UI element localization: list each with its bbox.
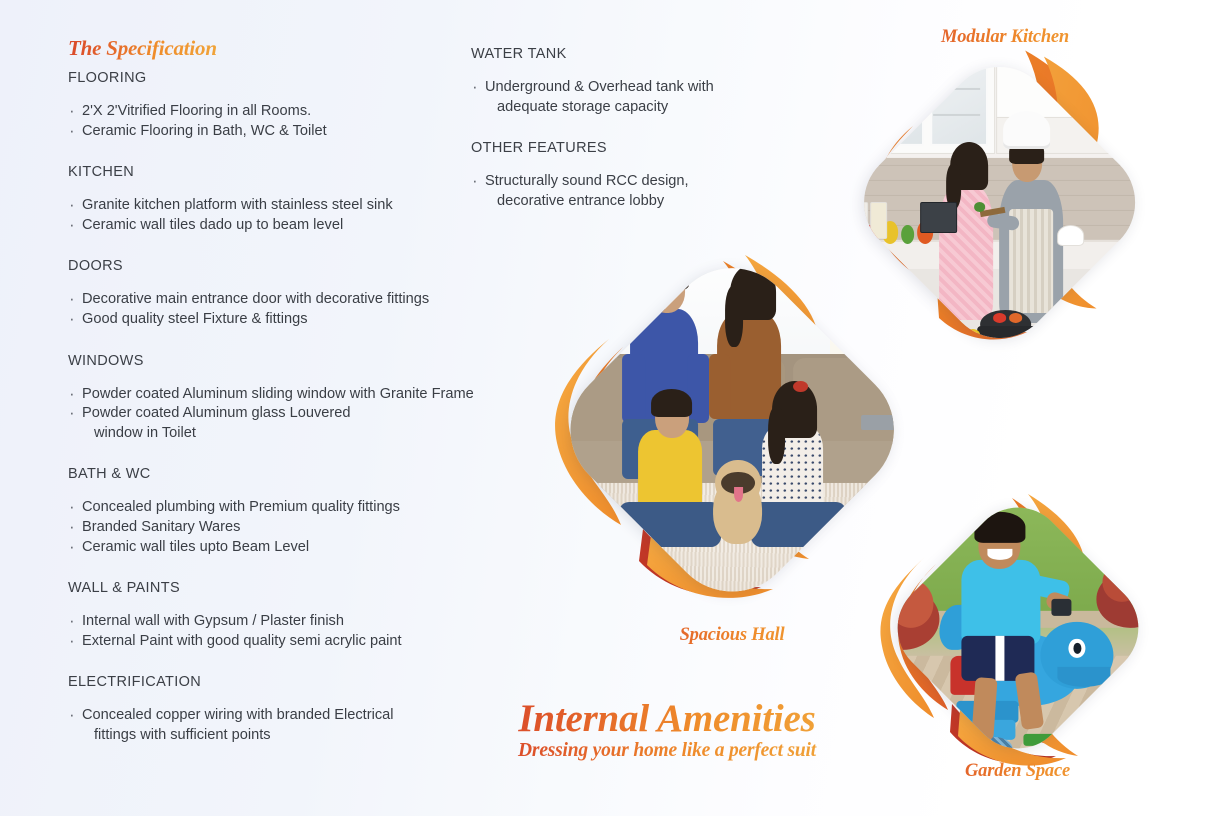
hero-subtitle: Dressing your home like a perfect suit bbox=[497, 739, 837, 763]
spec-right-item: Structurally sound RCC design, bbox=[471, 172, 751, 192]
spec-heading: DOORS bbox=[68, 258, 508, 274]
spec-item: Powder coated Aluminum sliding window wi… bbox=[68, 385, 508, 405]
spec-heading: FLOORING bbox=[68, 70, 508, 86]
photo-garden-space bbox=[880, 490, 1155, 765]
spec-list: Concealed plumbing with Premium quality … bbox=[68, 498, 508, 557]
spec-right-item: adequate storage capacity bbox=[471, 98, 751, 118]
spec-item: Powder coated Aluminum glass Louvered bbox=[68, 404, 508, 424]
caption-garden-space: Garden Space bbox=[905, 761, 1130, 782]
brochure-page: The Specification FLOORING2'X 2'Vitrifie… bbox=[0, 0, 1207, 816]
spec-list: Internal wall with Gypsum / Plaster fini… bbox=[68, 612, 508, 651]
spec-list: 2'X 2'Vitrified Flooring in all Rooms.Ce… bbox=[68, 102, 508, 141]
spec-block: KITCHENGranite kitchen platform with sta… bbox=[68, 164, 508, 235]
spec-block: BATH & WCConcealed plumbing with Premium… bbox=[68, 466, 508, 557]
spec-list: Granite kitchen platform with stainless … bbox=[68, 196, 508, 235]
spec-block: WINDOWSPowder coated Aluminum sliding wi… bbox=[68, 353, 508, 444]
specification-column-right: WATER TANKUnderground & Overhead tank wi… bbox=[471, 46, 751, 234]
spec-heading: BATH & WC bbox=[68, 466, 508, 482]
spec-item: fittings with sufficient points bbox=[68, 726, 508, 746]
spec-right-heading: WATER TANK bbox=[471, 46, 751, 62]
spec-right-block: OTHER FEATURESStructurally sound RCC des… bbox=[471, 140, 751, 211]
spec-item: Branded Sanitary Wares bbox=[68, 518, 508, 538]
spec-block: FLOORING2'X 2'Vitrified Flooring in all … bbox=[68, 70, 508, 141]
spec-right-list: Underground & Overhead tank withadequate… bbox=[471, 78, 751, 117]
spec-block: WALL & PAINTSInternal wall with Gypsum /… bbox=[68, 580, 508, 651]
spec-item: External Paint with good quality semi ac… bbox=[68, 632, 508, 652]
spec-right-item: Underground & Overhead tank with bbox=[471, 78, 751, 98]
spec-right-heading: OTHER FEATURES bbox=[471, 140, 751, 156]
spec-heading: KITCHEN bbox=[68, 164, 508, 180]
spec-list: Powder coated Aluminum sliding window wi… bbox=[68, 385, 508, 444]
spec-item: Concealed plumbing with Premium quality … bbox=[68, 498, 508, 518]
specification-title: The Specification bbox=[68, 36, 217, 61]
caption-spacious-hall: Spacious Hall bbox=[607, 625, 857, 646]
spec-heading: WINDOWS bbox=[68, 353, 508, 369]
spec-item: Granite kitchen platform with stainless … bbox=[68, 196, 508, 216]
spec-item: Ceramic wall tiles dado up to beam level bbox=[68, 216, 508, 236]
spec-heading: ELECTRIFICATION bbox=[68, 674, 508, 690]
photo-spacious-hall bbox=[547, 245, 917, 615]
spec-item: Decorative main entrance door with decor… bbox=[68, 290, 508, 310]
specification-column-left: FLOORING2'X 2'Vitrified Flooring in all … bbox=[68, 70, 508, 769]
spec-item: Good quality steel Fixture & fittings bbox=[68, 310, 508, 330]
spec-block: DOORSDecorative main entrance door with … bbox=[68, 258, 508, 329]
spec-right-list: Structurally sound RCC design,decorative… bbox=[471, 172, 751, 211]
hero-title: Internal Amenities bbox=[497, 698, 837, 740]
spec-item: Internal wall with Gypsum / Plaster fini… bbox=[68, 612, 508, 632]
spec-item: Ceramic wall tiles upto Beam Level bbox=[68, 538, 508, 558]
spec-block: ELECTRIFICATIONConcealed copper wiring w… bbox=[68, 674, 508, 745]
spec-right-item: decorative entrance lobby bbox=[471, 192, 751, 212]
spec-item: window in Toilet bbox=[68, 424, 508, 444]
hero-wordmark: Internal Amenities Dressing your home li… bbox=[497, 698, 837, 763]
spec-item: Concealed copper wiring with branded Ele… bbox=[68, 706, 508, 726]
spec-list: Concealed copper wiring with branded Ele… bbox=[68, 706, 508, 745]
spec-heading: WALL & PAINTS bbox=[68, 580, 508, 596]
spec-right-block: WATER TANKUnderground & Overhead tank wi… bbox=[471, 46, 751, 117]
spec-item: 2'X 2'Vitrified Flooring in all Rooms. bbox=[68, 102, 508, 122]
spec-list: Decorative main entrance door with decor… bbox=[68, 290, 508, 329]
spec-item: Ceramic Flooring in Bath, WC & Toilet bbox=[68, 122, 508, 142]
caption-modular-kitchen: Modular Kitchen bbox=[875, 27, 1135, 48]
